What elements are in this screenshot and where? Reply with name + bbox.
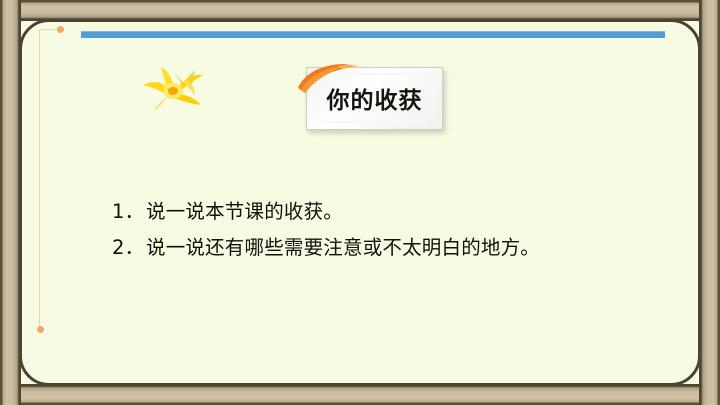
yellow-flower-icon: [137, 66, 209, 111]
frame-band-right: [698, 0, 720, 405]
list-item: 1．说一说本节课的收获。: [112, 194, 672, 230]
slide-canvas: 你的收获 1．说一说本节课的收获。 2．说一说还有哪些需要注意或不太明白的地方。: [19, 19, 701, 386]
list-item-number: 2．: [112, 230, 146, 266]
orange-rule-vertical: [39, 29, 40, 330]
list-item: 2．说一说还有哪些需要注意或不太明白的地方。: [112, 230, 672, 266]
list-item-number: 1．: [112, 194, 146, 230]
orange-dot-icon-top: [57, 26, 64, 33]
title-card-heading: 你的收获: [306, 81, 443, 115]
list-item-text: 说一说本节课的收获。: [146, 200, 343, 223]
frame-band-bottom: [0, 383, 720, 405]
list-item-text: 说一说还有哪些需要注意或不太明白的地方。: [146, 236, 540, 259]
title-card: 你的收获: [306, 67, 443, 130]
orange-dot-icon-bottom: [37, 326, 44, 333]
slide-root: 你的收获 1．说一说本节课的收获。 2．说一说还有哪些需要注意或不太明白的地方。: [0, 0, 720, 405]
body-list: 1．说一说本节课的收获。 2．说一说还有哪些需要注意或不太明白的地方。: [112, 194, 672, 266]
blue-rule: [81, 31, 665, 38]
